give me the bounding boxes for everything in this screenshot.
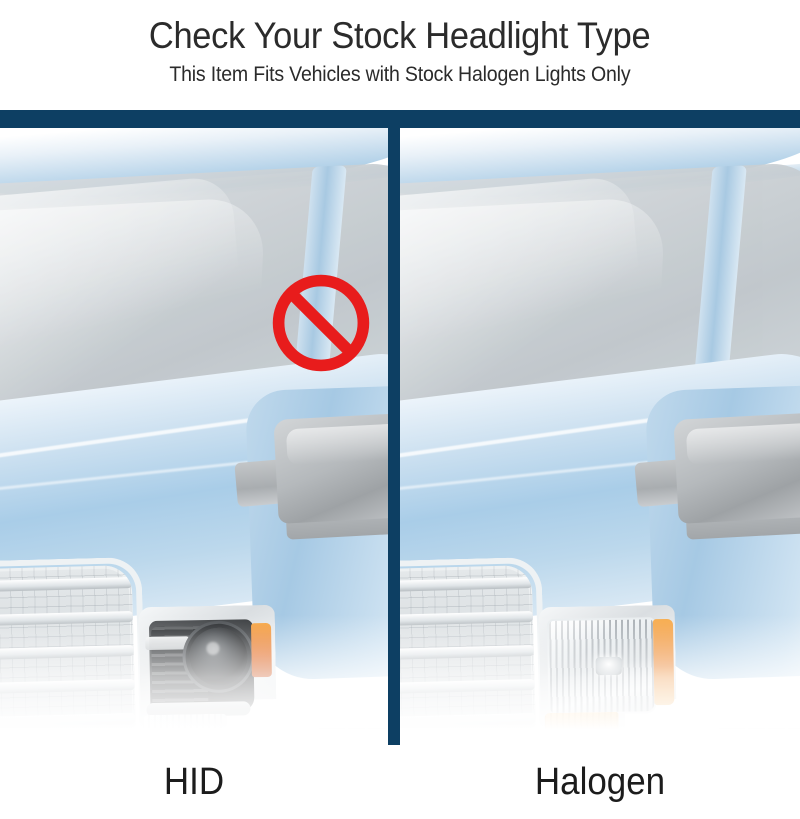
- truck-photo-hid: [0, 128, 388, 745]
- caption-row: HID Halogen: [0, 745, 800, 819]
- panel-divider: [388, 128, 400, 815]
- caption-hid: HID: [16, 745, 373, 819]
- photo-bottom-fade: [400, 615, 800, 745]
- prohibited-icon: [268, 270, 374, 376]
- panel-halogen: [400, 128, 800, 819]
- tow-mirror-head: [273, 412, 388, 524]
- panel-hid: [0, 128, 388, 819]
- photo-bottom-fade: [0, 615, 388, 745]
- truck-photo-halogen: [400, 128, 800, 745]
- page-title: Check Your Stock Headlight Type: [149, 14, 650, 58]
- tow-mirror-head: [673, 412, 800, 524]
- header: Check Your Stock Headlight Type This Ite…: [0, 0, 800, 110]
- navy-divider-rule: [0, 110, 800, 128]
- page-subtitle: This Item Fits Vehicles with Stock Halog…: [169, 61, 630, 89]
- comparison-panels: [0, 128, 800, 819]
- caption-halogen: Halogen: [416, 745, 784, 819]
- headlight-comparison-infographic: Check Your Stock Headlight Type This Ite…: [0, 0, 800, 819]
